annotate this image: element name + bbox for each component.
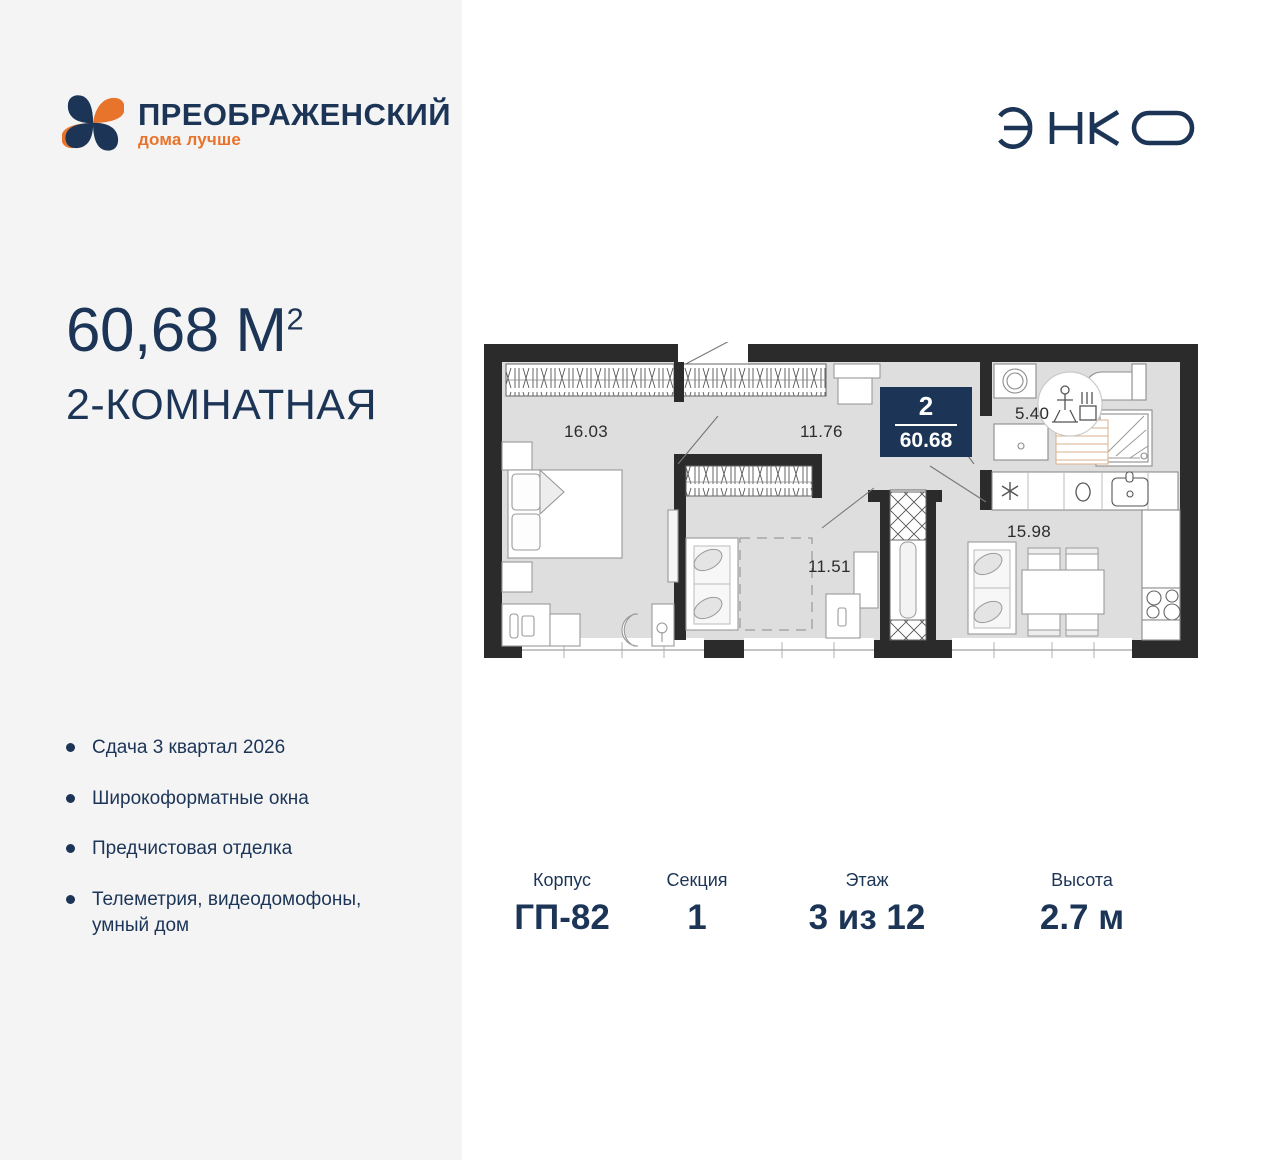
info-section: Секция 1 (642, 870, 752, 938)
badge-room-count: 2 (919, 393, 933, 419)
area-headline: 60,68 M2 2-КОМНАТНАЯ (66, 300, 377, 427)
bullet-icon (66, 794, 75, 803)
area-superscript: 2 (287, 301, 304, 336)
floorplan-card: ПРЕОБРАЖЕНСКИЙ дома лучше 60,68 M2 2-КОМ… (0, 0, 1280, 1160)
brand-tagline: дома лучше (138, 131, 451, 148)
feature-label: Телеметрия, видеодомофоны, умный дом (92, 887, 406, 938)
floor-plan[interactable]: 16.03 11.76 11.51 5.40 15.98 2 60.68 (482, 342, 1200, 702)
rooms-count-label: 2-КОМНАТНАЯ (66, 384, 377, 427)
info-value: 2.7 м (982, 898, 1182, 938)
info-caption: Корпус (482, 870, 642, 892)
butterfly-pinwheel-logo-icon (62, 92, 124, 154)
bottom-windows (522, 638, 1132, 664)
info-value: 3 из 12 (752, 898, 982, 938)
room-area-bathroom: 5.40 (1015, 404, 1049, 424)
status-badge: 2 60.68 (880, 387, 972, 457)
list-item: Сдача 3 квартал 2026 (66, 735, 406, 761)
total-area-value: 60,68 M2 (66, 300, 377, 362)
feature-label: Широкоформатные окна (92, 786, 309, 812)
room-area-living-hall: 11.76 (800, 422, 843, 442)
list-item: Предчистовая отделка (66, 836, 406, 862)
top-windows (506, 364, 826, 396)
room-area-bedroom-main: 16.03 (564, 422, 608, 442)
list-item: Телеметрия, видеодомофоны, умный дом (66, 887, 406, 938)
feature-label: Сдача 3 квартал 2026 (92, 735, 285, 761)
features-list: Сдача 3 квартал 2026 Широкоформатные окн… (66, 735, 406, 963)
left-info-panel: ПРЕОБРАЖЕНСКИЙ дома лучше 60,68 M2 2-КОМ… (0, 0, 462, 1160)
info-value: 1 (642, 898, 752, 938)
list-item: Широкоформатные окна (66, 786, 406, 812)
entrance-door (678, 342, 754, 366)
kitchen-right-wall (1142, 510, 1180, 640)
kitchen-counter (992, 472, 1178, 510)
room-area-bedroom-second: 11.51 (808, 557, 851, 577)
plan-panel: 16.03 11.76 11.51 5.40 15.98 2 60.68 Кор… (462, 0, 1280, 1160)
bullet-icon (66, 743, 75, 752)
area-unit: M (235, 296, 286, 365)
bullet-icon (66, 895, 75, 904)
info-caption: Секция (642, 870, 752, 892)
furniture-kitchen-living (968, 542, 1104, 636)
area-number: 60,68 (66, 296, 219, 365)
feature-label: Предчистовая отделка (92, 836, 292, 862)
info-value: ГП-82 (482, 898, 642, 938)
room-area-kitchen-living: 15.98 (1007, 522, 1051, 542)
info-floor: Этаж 3 из 12 (752, 870, 982, 938)
ventilation-shaft (890, 490, 926, 640)
info-caption: Высота (982, 870, 1182, 892)
floor-plan-svg (482, 342, 1200, 702)
enko-logo-icon[interactable] (992, 100, 1202, 156)
badge-divider (895, 424, 957, 426)
apartment-info-row: Корпус ГП-82 Секция 1 Этаж 3 из 12 Высот… (482, 870, 1182, 938)
info-ceiling-height: Высота 2.7 м (982, 870, 1182, 938)
info-building: Корпус ГП-82 (482, 870, 642, 938)
badge-total-area: 60.68 (900, 430, 953, 451)
brand-logo[interactable]: ПРЕОБРАЖЕНСКИЙ дома лучше (62, 92, 451, 154)
brand-title: ПРЕОБРАЖЕНСКИЙ (138, 99, 451, 130)
info-caption: Этаж (752, 870, 982, 892)
bullet-icon (66, 844, 75, 853)
